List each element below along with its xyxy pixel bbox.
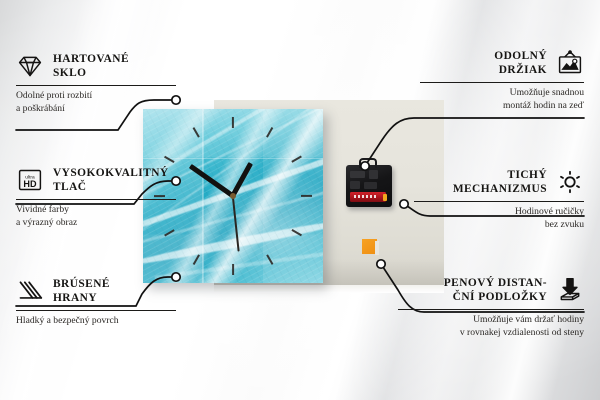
feature-desc: Umožňuje snadnou montáž hodin na zeď: [420, 87, 584, 112]
title-rule: [16, 199, 176, 200]
foam-spacer-pad: [362, 239, 379, 255]
hanger-hook: [359, 158, 377, 168]
product-photo: [140, 97, 444, 293]
hour-marker: [301, 195, 312, 197]
hour-marker: [232, 264, 234, 275]
title-rule: [414, 201, 584, 202]
picture-frame-hanger-icon: [556, 50, 584, 76]
battery: [350, 192, 386, 202]
title-rule: [398, 309, 584, 310]
title-rule: [16, 85, 176, 86]
beveled-edges-icon: [16, 278, 44, 304]
feature-desc: Hladký a bezpečný povrch: [16, 315, 176, 327]
feature-desc: Vividné farby a výrazný obraz: [16, 204, 176, 229]
down-arrow-onto-pad-icon: [556, 277, 584, 303]
feature-desc: Odolné proti rozbití a poškrábání: [16, 90, 176, 115]
title-rule: [16, 310, 176, 311]
feature-title: PENOVÝ DISTAN- ČNÍ PODLOŽKY: [444, 276, 547, 305]
feature-title: TICHÝ MECHANIZMUS: [453, 168, 547, 197]
svg-text:HD: HD: [23, 179, 37, 189]
gear-icon: [556, 169, 584, 195]
infographic-canvas: HARTOVANÉ SKLO Odolné proti rozbití a po…: [0, 0, 600, 400]
feature-mechanism: TICHÝ MECHANIZMUS Hodinové ručičky bez z…: [414, 168, 584, 231]
feature-print: ultra HD VYSOKOKVALITNÝ TLAČ Vividné far…: [16, 166, 176, 229]
feature-title: ODOLNÝ DRŽIAK: [494, 49, 547, 78]
feature-glass: HARTOVANÉ SKLO Odolné proti rozbití a po…: [16, 52, 176, 115]
feature-edges: BRÚSENÉ HRANY Hladký a bezpečný povrch: [16, 277, 176, 328]
ultra-hd-icon: ultra HD: [16, 167, 44, 193]
feature-foam: PENOVÝ DISTAN- ČNÍ PODLOŽKY Umožňuje vám…: [398, 276, 584, 339]
feature-title: HARTOVANÉ SKLO: [53, 52, 129, 81]
clock-mechanism: [346, 165, 392, 207]
feature-title: BRÚSENÉ HRANY: [53, 277, 110, 306]
hand-center-cap: [230, 193, 236, 199]
feature-holder: ODOLNÝ DRŽIAK Umožňuje snadnou montáž ho…: [420, 49, 584, 112]
feature-desc: Umožňuje vám držať hodiny v rovnakej vzd…: [398, 314, 584, 339]
feature-desc: Hodinové ručičky bez zvuku: [414, 206, 584, 231]
hour-marker: [232, 117, 234, 128]
diamond-icon: [16, 53, 44, 79]
feature-title: VYSOKOKVALITNÝ TLAČ: [53, 166, 169, 195]
title-rule: [420, 82, 584, 83]
